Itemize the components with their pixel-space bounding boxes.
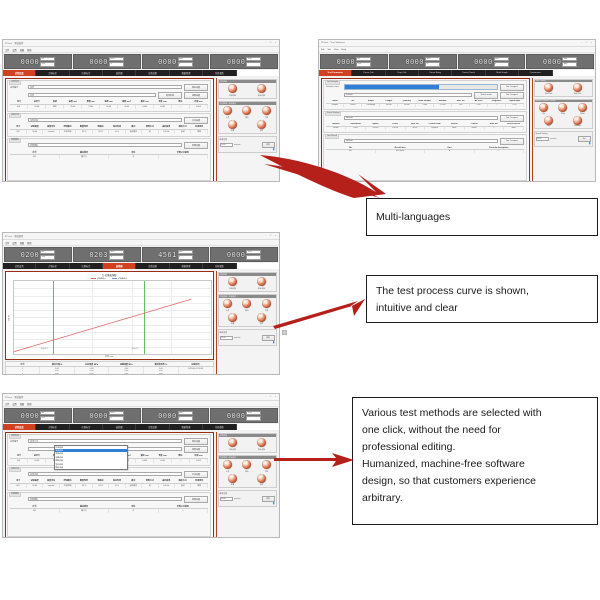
cell: 0.000 — [136, 104, 154, 108]
readout-mini-fields[interactable]: mm s — [178, 411, 193, 421]
tab-data-manage[interactable]: 数据管理 — [170, 424, 203, 430]
menu-item-view[interactable]: 视图 — [20, 48, 24, 52]
tab-curve[interactable]: 曲线图 — [103, 263, 136, 269]
cell: 001 — [10, 483, 26, 487]
tab-test-parameter[interactable]: Test Parameter — [319, 70, 352, 76]
method-combobox[interactable]: 选择方法 — [28, 439, 182, 443]
dial-icon[interactable] — [262, 460, 271, 469]
dial-icon[interactable] — [228, 84, 237, 93]
callout-line: one click, without the need for — [362, 422, 588, 439]
speed-input[interactable]: 50.00 — [220, 497, 233, 501]
readout-mini-top[interactable]: N·m — [246, 57, 261, 62]
unit-label: ° — [248, 417, 249, 419]
readout-mini-fields[interactable]: mm s — [494, 57, 509, 67]
knob-grid: 上升 停止 下降 夹紧 松开 — [219, 105, 276, 133]
app-window-cn-main[interactable]: PCtest - 测试软件 – □ × 文件 设置 视图 帮助 0000 kN … — [2, 39, 280, 182]
readout-mini-top[interactable]: Nm — [562, 57, 577, 62]
readout-digits: 0000 — [405, 58, 423, 66]
knob-start-test[interactable]: Start Test — [540, 83, 557, 94]
tab-system-params[interactable]: 系统参数 — [203, 70, 236, 76]
load-settings-button[interactable]: 读取设置 — [184, 92, 208, 99]
dial-icon[interactable] — [223, 299, 232, 308]
scroll-nub[interactable] — [282, 330, 287, 335]
knob-release[interactable]: Release — [569, 116, 586, 127]
tab-continuous[interactable]: Continuous — [519, 70, 552, 76]
window-controls[interactable]: – □ × — [580, 42, 593, 45]
cell: 最大力 — [59, 154, 108, 158]
menu-item-view[interactable]: 视图 — [20, 241, 24, 245]
readout-mini-top[interactable]: mm — [178, 250, 193, 255]
chevron-down-icon[interactable]: ▮ — [273, 148, 275, 151]
table-row[interactable]: 001 最大力 N — — [10, 154, 208, 158]
dial-icon[interactable] — [257, 474, 266, 483]
method-select[interactable]: 拉伸试验 — [28, 118, 182, 122]
tab-results[interactable]: 试验结果 — [136, 263, 169, 269]
tab-bar[interactable]: 试验设置 力值标定 位移标定 曲线图 试验结果 数据管理 系统参数 — [3, 424, 279, 430]
tab-test-settings[interactable]: 试验设置 — [3, 263, 36, 269]
result-settings-button[interactable]: 结果设置 — [184, 496, 208, 503]
save-settings-button[interactable]: 保存设置 — [184, 84, 208, 91]
content-area: 试样信息 试样编号 选择方法 保存设置 读取设置 序号 试样号 形状 宽度 mm… — [5, 432, 214, 539]
tab-data-manage[interactable]: 数据管理 — [170, 70, 203, 76]
readout-mini-fields[interactable]: N·m ° — [246, 250, 261, 260]
unit-label: s — [495, 63, 496, 65]
knob-release[interactable]: 松开 — [253, 474, 270, 486]
close-icon[interactable]: × — [274, 235, 277, 238]
window-controls[interactable]: – □ × — [264, 42, 277, 45]
tab-test-settings[interactable]: 试验设置 — [3, 424, 36, 430]
dial-icon[interactable] — [578, 103, 587, 112]
cell: 20.000 — [398, 103, 416, 106]
tab-bar[interactable]: 试验设置 力值标定 位移标定 曲线图 试验结果 数据管理 系统参数 — [3, 263, 279, 269]
dropdown-option[interactable]: 循环试验 — [55, 466, 127, 469]
app-window-dropdown[interactable]: PCtest - 测试软件 – □ × 文件 设置 视图 帮助 0000 kN … — [2, 393, 280, 538]
unit-label: s — [179, 63, 180, 65]
dial-icon[interactable] — [262, 299, 271, 308]
speed-unit-label: mm/min — [234, 144, 260, 146]
speed-setting-panel: 速度设置 50.00 mm/min 应用 ▮ — [218, 490, 277, 507]
field-label: 试样编号 — [10, 440, 26, 443]
speed-input[interactable]: 50.00 — [220, 143, 233, 147]
method-set-compute-button[interactable]: Set Compute — [500, 115, 524, 122]
knob-label: 停止试验 — [258, 448, 265, 451]
input-value: 拉伸试验 — [30, 473, 38, 476]
menu-item-view[interactable]: View — [334, 49, 339, 51]
knob-start-test[interactable]: 开始试验 — [224, 277, 241, 289]
menu-item-help[interactable]: 帮助 — [27, 241, 31, 245]
knob-up[interactable]: Up — [535, 103, 552, 114]
callout-line: design, so that customers experience — [362, 473, 588, 490]
readout-mini-fields[interactable]: Nm deg — [562, 57, 577, 67]
readout-mini-bottom[interactable]: % — [109, 62, 124, 67]
readout-mini-bottom[interactable]: mm — [40, 416, 55, 421]
readout-mini-bottom[interactable]: ° — [246, 255, 261, 260]
tab-force-cal[interactable]: 力值标定 — [36, 70, 69, 76]
readout-mini-top[interactable]: kN — [40, 250, 55, 255]
readout-mini-fields[interactable]: N·m ° — [246, 411, 261, 421]
method-dropdown-list[interactable]: 拉伸试验 压缩试验 弯曲试验 剥离试验 撕裂试验 剪切试验 循环试验 — [54, 445, 128, 471]
readout-panel: 4561 mm s — [142, 247, 210, 262]
save-settings-button[interactable]: 保存设置 — [184, 438, 208, 445]
unit-label: kN — [42, 412, 44, 414]
cell: 是 — [142, 483, 158, 487]
knob-grip[interactable]: Grip — [540, 116, 557, 127]
unit-label: % — [110, 417, 112, 419]
knob-stop[interactable]: 停止 — [238, 299, 255, 311]
chart-panel[interactable]: 力-位移曲线图 试验曲线 1 试验曲线 2 力值 N — [5, 271, 214, 360]
knob-label: 下降 — [265, 309, 269, 312]
dial-icon[interactable] — [228, 120, 237, 129]
menu-item-set[interactable]: Set — [328, 49, 331, 51]
knob-label: Down — [580, 113, 585, 115]
table-row[interactable]: 3 0.00 0.00 0.00 0.00 — [5, 373, 213, 375]
menu-item-settings[interactable]: 设置 — [12, 402, 16, 406]
cell: 0.00 — [470, 103, 488, 106]
dial-icon[interactable] — [257, 277, 266, 286]
knob-release[interactable]: 松开 — [253, 120, 270, 132]
knob-stop-test[interactable]: Stop Test — [569, 83, 586, 94]
tab-disp-cal[interactable]: 位移标定 — [70, 70, 103, 76]
menu-item-help[interactable]: Help — [342, 49, 347, 51]
readout-mini-top[interactable]: kN — [356, 57, 371, 62]
cell: 50.00 — [26, 129, 42, 133]
knob-start-test[interactable]: 开始试验 — [224, 438, 241, 450]
callout-line: intuitive and clear — [376, 300, 588, 317]
close-icon[interactable]: × — [590, 42, 593, 45]
knob-down[interactable]: 下降 — [258, 460, 275, 472]
cell: 100.00 — [385, 126, 405, 129]
app-window-chart[interactable]: PCtest - 测试软件 – □ × 文件 设置 视图 帮助 0200 kN … — [2, 232, 280, 375]
readout-mini-bottom[interactable]: ° — [246, 62, 261, 67]
readout-mini-bottom[interactable]: s — [178, 416, 193, 421]
knob-grip[interactable]: 夹紧 — [224, 313, 241, 325]
result-settings-button[interactable]: 结果设置 — [184, 142, 208, 149]
readout-mini-top[interactable]: N·m — [246, 411, 261, 416]
group-legend: 试验方法 — [9, 113, 21, 118]
method-select[interactable]: Method — [344, 116, 498, 120]
knob-grid: 开始试验 停止试验 — [219, 276, 276, 291]
readout-mini-bottom[interactable]: s — [178, 255, 193, 260]
field-row: 试样编号 试样 保存设置 — [10, 84, 208, 91]
tab-curve[interactable]: 曲线图 — [103, 70, 136, 76]
knob-up[interactable]: 上升 — [219, 460, 236, 472]
dial-icon[interactable] — [257, 313, 266, 322]
readout-mini-bottom[interactable]: mm — [40, 62, 55, 67]
speed-setting-label: 速度设置 — [220, 492, 275, 495]
readout-mini-fields[interactable]: MPa % — [109, 57, 124, 67]
group-legend: 结果输出 — [9, 138, 21, 143]
minimize-icon[interactable]: – — [580, 42, 583, 45]
dial-icon[interactable] — [223, 106, 232, 115]
tab-force-cal[interactable]: 力值标定 — [36, 263, 69, 269]
result-select[interactable]: Method — [344, 139, 498, 143]
unit-label: kN — [42, 58, 44, 60]
table-row[interactable]: 001 50.00 mm/min 位移控制 90 % 0.0 N 0.0 s 自… — [10, 483, 208, 487]
knob-grip[interactable]: 夹紧 — [224, 474, 241, 486]
readout-mini-fields[interactable]: MPa % — [109, 250, 124, 260]
method-settings-button[interactable]: 方法设置 — [184, 471, 208, 478]
x-axis-label: 位移 mm — [7, 355, 212, 358]
knob-stop[interactable]: Stop — [554, 103, 571, 114]
cell: 自动 — [175, 483, 191, 487]
readout-digits: 0000 — [89, 412, 107, 420]
result-table: 序号 输出项目 单位 计算公式说明 001 最大力 N — — [10, 150, 208, 159]
sample-name-input[interactable]: 试样 — [28, 85, 182, 89]
dial-icon[interactable] — [573, 83, 582, 92]
readout-mini-bottom[interactable]: deg — [562, 62, 577, 67]
side-control-panel: 试验控制 开始试验 停止试验 手动控制 / 夹具操作 上升 停止 下降 夹紧 松… — [216, 432, 278, 539]
maximize-icon[interactable]: □ — [269, 42, 272, 45]
tab-disp-cal[interactable]: 位移标定 — [70, 424, 103, 430]
minimize-icon[interactable]: – — [264, 235, 267, 238]
knob-stop-test[interactable]: 停止试验 — [253, 277, 270, 289]
knob-up[interactable]: 上升 — [219, 106, 236, 118]
readout-strip: 0000 kN mm 0000 MPa % 0000 mm s 0000 N·m — [3, 407, 279, 424]
readout-mini-top[interactable]: kN — [40, 411, 55, 416]
readout-mini-top[interactable]: kN — [40, 57, 55, 62]
dial-icon[interactable] — [228, 474, 237, 483]
close-icon[interactable]: × — [274, 396, 277, 399]
knob-label: Release — [574, 125, 581, 127]
expand-indicator[interactable]: ▮ — [220, 341, 277, 344]
sample-select[interactable]: Sample — [344, 93, 472, 97]
tab-disp-cali[interactable]: Disp Cali — [386, 70, 419, 76]
knob-stop[interactable]: 停止 — [238, 106, 255, 118]
dial-icon[interactable] — [242, 299, 251, 308]
result-table: 序号 输出项目 单位 计算公式说明 001 最大力 N — — [10, 504, 208, 513]
maximize-icon[interactable]: □ — [269, 235, 272, 238]
tab-system-params[interactable]: 系统参数 — [203, 424, 236, 430]
speed-unit-label: mm/min — [234, 498, 260, 500]
callout-line: Multi-languages — [376, 209, 450, 226]
expand-indicator[interactable]: ▮ — [536, 142, 593, 145]
standard-select[interactable]: 标准 — [28, 93, 156, 97]
knob-down[interactable]: Down — [574, 103, 591, 114]
knob-stop-test[interactable]: 停止试验 — [253, 438, 270, 450]
tab-bar[interactable]: Test Parameter Force Cali Disp Cali Forc… — [319, 70, 595, 76]
expand-indicator[interactable]: ▮ — [220, 148, 277, 151]
select-mode-button[interactable]: Select mode — [474, 92, 498, 99]
method-select[interactable]: 拉伸试验 — [28, 472, 182, 476]
dial-icon[interactable] — [257, 120, 266, 129]
cell: S-001 — [28, 458, 46, 462]
group-test-method: 试验方法 拉伸试验 方法设置 序号 试验速度 速度单位 控制模式 断裂判定 预载… — [7, 113, 211, 137]
dial-icon[interactable] — [544, 116, 553, 125]
dial-icon[interactable] — [257, 438, 266, 447]
menu-item-help[interactable]: 帮助 — [27, 48, 31, 52]
cell: 0.001 — [346, 126, 366, 129]
tab-force-check[interactable]: Force Check — [452, 70, 485, 76]
readout-mini-top[interactable]: MPa — [109, 57, 124, 62]
unit-label: mm — [42, 63, 45, 65]
readout-mini-bottom[interactable]: % — [109, 255, 124, 260]
titlebar: PCtest - Test Software – □ × — [319, 40, 595, 47]
readout-digits: 0000 — [89, 58, 107, 66]
table-row[interactable]: 001 最大力 N — — [10, 508, 208, 512]
result-template-select[interactable]: 结果模板 — [28, 143, 182, 147]
knob-group-manual-control: 手动控制 / 夹具操作 上升 停止 下降 夹紧 松开 — [218, 455, 277, 489]
knob-label: 开始试验 — [229, 94, 236, 97]
dial-icon[interactable] — [242, 106, 251, 115]
dial-icon[interactable] — [228, 438, 237, 447]
field-row: Method Set Compute — [326, 115, 524, 122]
readout-mini-bottom[interactable]: s — [494, 62, 509, 67]
readout-mini-bottom[interactable]: % — [109, 416, 124, 421]
cell: 2.000 — [82, 104, 100, 108]
result-set-compute-button[interactable]: Set Compute — [500, 138, 524, 145]
group-legend: 试验方法 — [9, 467, 21, 472]
tab-results[interactable]: 试验结果 — [136, 424, 169, 430]
menu-item-settings[interactable]: 设置 — [12, 241, 16, 245]
window-controls[interactable]: – □ × — [264, 235, 277, 238]
titlebar: PCtest - 测试软件 – □ × — [3, 40, 279, 47]
table-row[interactable]: 001 S-001 矩形 20.00 2.000 50.00 40.00 0.0… — [10, 104, 208, 108]
unit-label: mm — [179, 412, 182, 414]
readout-mini-top[interactable]: mm — [178, 411, 193, 416]
cell: — — [488, 103, 506, 106]
menu-item-file[interactable]: File — [321, 49, 325, 51]
tab-curve[interactable]: 曲线图 — [103, 424, 136, 430]
field-row: 拉伸试验 方法设置 — [10, 117, 208, 124]
knob-start-test[interactable]: 开始试验 — [224, 84, 241, 96]
menu-item-settings[interactable]: 设置 — [12, 48, 16, 52]
result-template-select[interactable]: 结果模板 — [28, 497, 182, 501]
readout-mini-fields[interactable]: kN mm — [40, 411, 55, 421]
minimize-icon[interactable]: – — [264, 396, 267, 399]
tab-bar[interactable]: 试验设置 力值标定 位移标定 曲线图 试验结果 数据管理 系统参数 — [3, 70, 279, 76]
dial-icon[interactable] — [262, 106, 271, 115]
cell: 3 — [5, 373, 40, 375]
tab-force-cal[interactable]: 力值标定 — [36, 424, 69, 430]
readout-mini-top[interactable]: N·m — [246, 250, 261, 255]
dial-icon[interactable] — [223, 460, 232, 469]
readout-mini-bottom[interactable]: s — [178, 62, 193, 67]
set-compute-button-1[interactable]: Set Compute — [500, 84, 524, 91]
select-standard-button[interactable]: 选择标准 — [158, 92, 182, 99]
menu-item-help[interactable]: 帮助 — [27, 402, 31, 406]
cell: 001 — [10, 129, 26, 133]
menu-item-view[interactable]: 视图 — [20, 402, 24, 406]
method-settings-button[interactable]: 方法设置 — [184, 117, 208, 124]
knob-up[interactable]: 上升 — [219, 299, 236, 311]
readout-mini-top[interactable]: MPa — [425, 57, 440, 62]
plot-area[interactable]: 标记点 1 标记点 2 — [13, 280, 212, 355]
readout-mini-fields[interactable]: mm s — [178, 250, 193, 260]
knob-stop-test[interactable]: 停止试验 — [253, 84, 270, 96]
readout-mini-bottom[interactable]: ° — [246, 416, 261, 421]
readout-mini-top[interactable]: MPa — [109, 250, 124, 255]
readout-mini-top[interactable]: mm — [178, 57, 193, 62]
dial-icon[interactable] — [544, 83, 553, 92]
set-compute-button-2[interactable]: Set Compute — [500, 92, 524, 99]
method-table: 序号 试验速度 速度单位 控制模式 断裂判定 预载荷 保持时间 模式 回零方式 … — [10, 125, 208, 134]
readout-mini-fields[interactable]: N·m ° — [246, 57, 261, 67]
dial-icon[interactable] — [242, 460, 251, 469]
minimize-icon[interactable]: – — [264, 42, 267, 45]
cell: — — [158, 154, 207, 158]
dial-icon[interactable] — [573, 116, 582, 125]
maximize-icon[interactable]: □ — [269, 396, 272, 399]
knob-label: 上升 — [226, 309, 230, 312]
group-sample-info: 试样信息 试样编号 试样 保存设置 标准 选择标准 读取设置 序号 试样号 形状… — [7, 80, 211, 112]
readout-mini-fields[interactable]: MPa % — [109, 411, 124, 421]
unit-label: % — [426, 63, 428, 65]
menu-item-file[interactable]: 文件 — [5, 241, 9, 245]
unit-label: s — [179, 256, 180, 258]
load-settings-button[interactable]: 读取设置 — [184, 446, 208, 453]
readout-mini-bottom[interactable]: mm — [40, 255, 55, 260]
close-icon[interactable]: × — [274, 42, 277, 45]
dial-icon[interactable] — [539, 103, 548, 112]
expand-indicator[interactable]: ▮ — [220, 502, 277, 505]
speed-setting-label: 速度设置 — [220, 138, 275, 141]
readout-mini-fields[interactable]: kN mm — [356, 57, 371, 67]
readout-mini-top[interactable]: mm — [494, 57, 509, 62]
menu-item-file[interactable]: 文件 — [5, 402, 9, 406]
callout-line: Humanized, machine-free software — [362, 456, 588, 473]
knob-label: 停止试验 — [258, 287, 265, 290]
readout-panel: 0000 mm s — [142, 408, 210, 423]
tab-disp-cal[interactable]: 位移标定 — [70, 263, 103, 269]
dial-icon[interactable] — [257, 84, 266, 93]
knob-grip[interactable]: 夹紧 — [224, 120, 241, 132]
tab-force-rang[interactable]: Force Rang — [419, 70, 452, 76]
knob-group-manual-control: Manual Control / Clamp Up Stop Down Grip… — [534, 99, 593, 130]
tab-force-cali[interactable]: Force Cali — [352, 70, 385, 76]
menu-item-file[interactable]: 文件 — [5, 48, 9, 52]
readout-mini-fields[interactable]: kN mm — [40, 57, 55, 67]
table-row[interactable]: 001 50.00 mm/min 位移控制 90 % 0.0 N 0.0 s 自… — [10, 129, 208, 133]
tab-test-settings[interactable]: 试验设置 — [3, 70, 36, 76]
dial-icon[interactable] — [228, 277, 237, 286]
readout-mini-bottom[interactable]: % — [425, 62, 440, 67]
table-row[interactable]: Sample 00001 Rectangle 50.000 20.000 5.0… — [326, 103, 524, 106]
readout-digits: 4561 — [158, 251, 176, 259]
knob-release[interactable]: 松开 — [253, 313, 270, 325]
readout-mini-fields[interactable]: kN mm — [40, 250, 55, 260]
dial-icon[interactable] — [558, 103, 567, 112]
tab-data-manage[interactable]: 数据管理 — [170, 263, 203, 269]
knob-stop[interactable]: 停止 — [238, 460, 255, 472]
dial-icon[interactable] — [228, 313, 237, 322]
tab-system-params[interactable]: 系统参数 — [203, 263, 236, 269]
readout-mini-fields[interactable]: mm s — [178, 57, 193, 67]
tab-results[interactable]: 试验结果 — [136, 70, 169, 76]
chevron-down-icon[interactable]: ▮ — [589, 142, 591, 145]
window-controls[interactable]: – □ × — [264, 396, 277, 399]
group-legend: 试样信息 — [9, 80, 21, 85]
knob-down[interactable]: 下降 — [258, 106, 275, 118]
table-row[interactable]: Tensile 0.001 50.000 100.00 90.00 Displa… — [326, 126, 524, 129]
speed-input[interactable]: 50.00 — [536, 137, 549, 141]
knob-label: Start Test — [545, 93, 553, 95]
readout-mini-fields[interactable]: MPa % — [425, 57, 440, 67]
chevron-down-icon[interactable]: ▮ — [273, 341, 275, 344]
cell: mm/min — [43, 483, 59, 487]
maximize-icon[interactable]: □ — [585, 42, 588, 45]
cell: mm/min — [43, 129, 59, 133]
tab-bar-filler — [237, 70, 280, 76]
knob-label: Up — [543, 113, 545, 115]
tab-multi-graph[interactable]: Multi Graph — [486, 70, 519, 76]
knob-grid: 开始试验 停止试验 — [219, 437, 276, 452]
knob-label: 开始试验 — [229, 287, 236, 290]
readout-mini-top[interactable]: MPa — [109, 411, 124, 416]
readout-mini-bottom[interactable]: mm — [356, 62, 371, 67]
cell: Rectangle — [362, 103, 380, 106]
speed-input[interactable]: 50.00 — [220, 336, 233, 340]
chevron-down-icon[interactable]: ▮ — [273, 502, 275, 505]
